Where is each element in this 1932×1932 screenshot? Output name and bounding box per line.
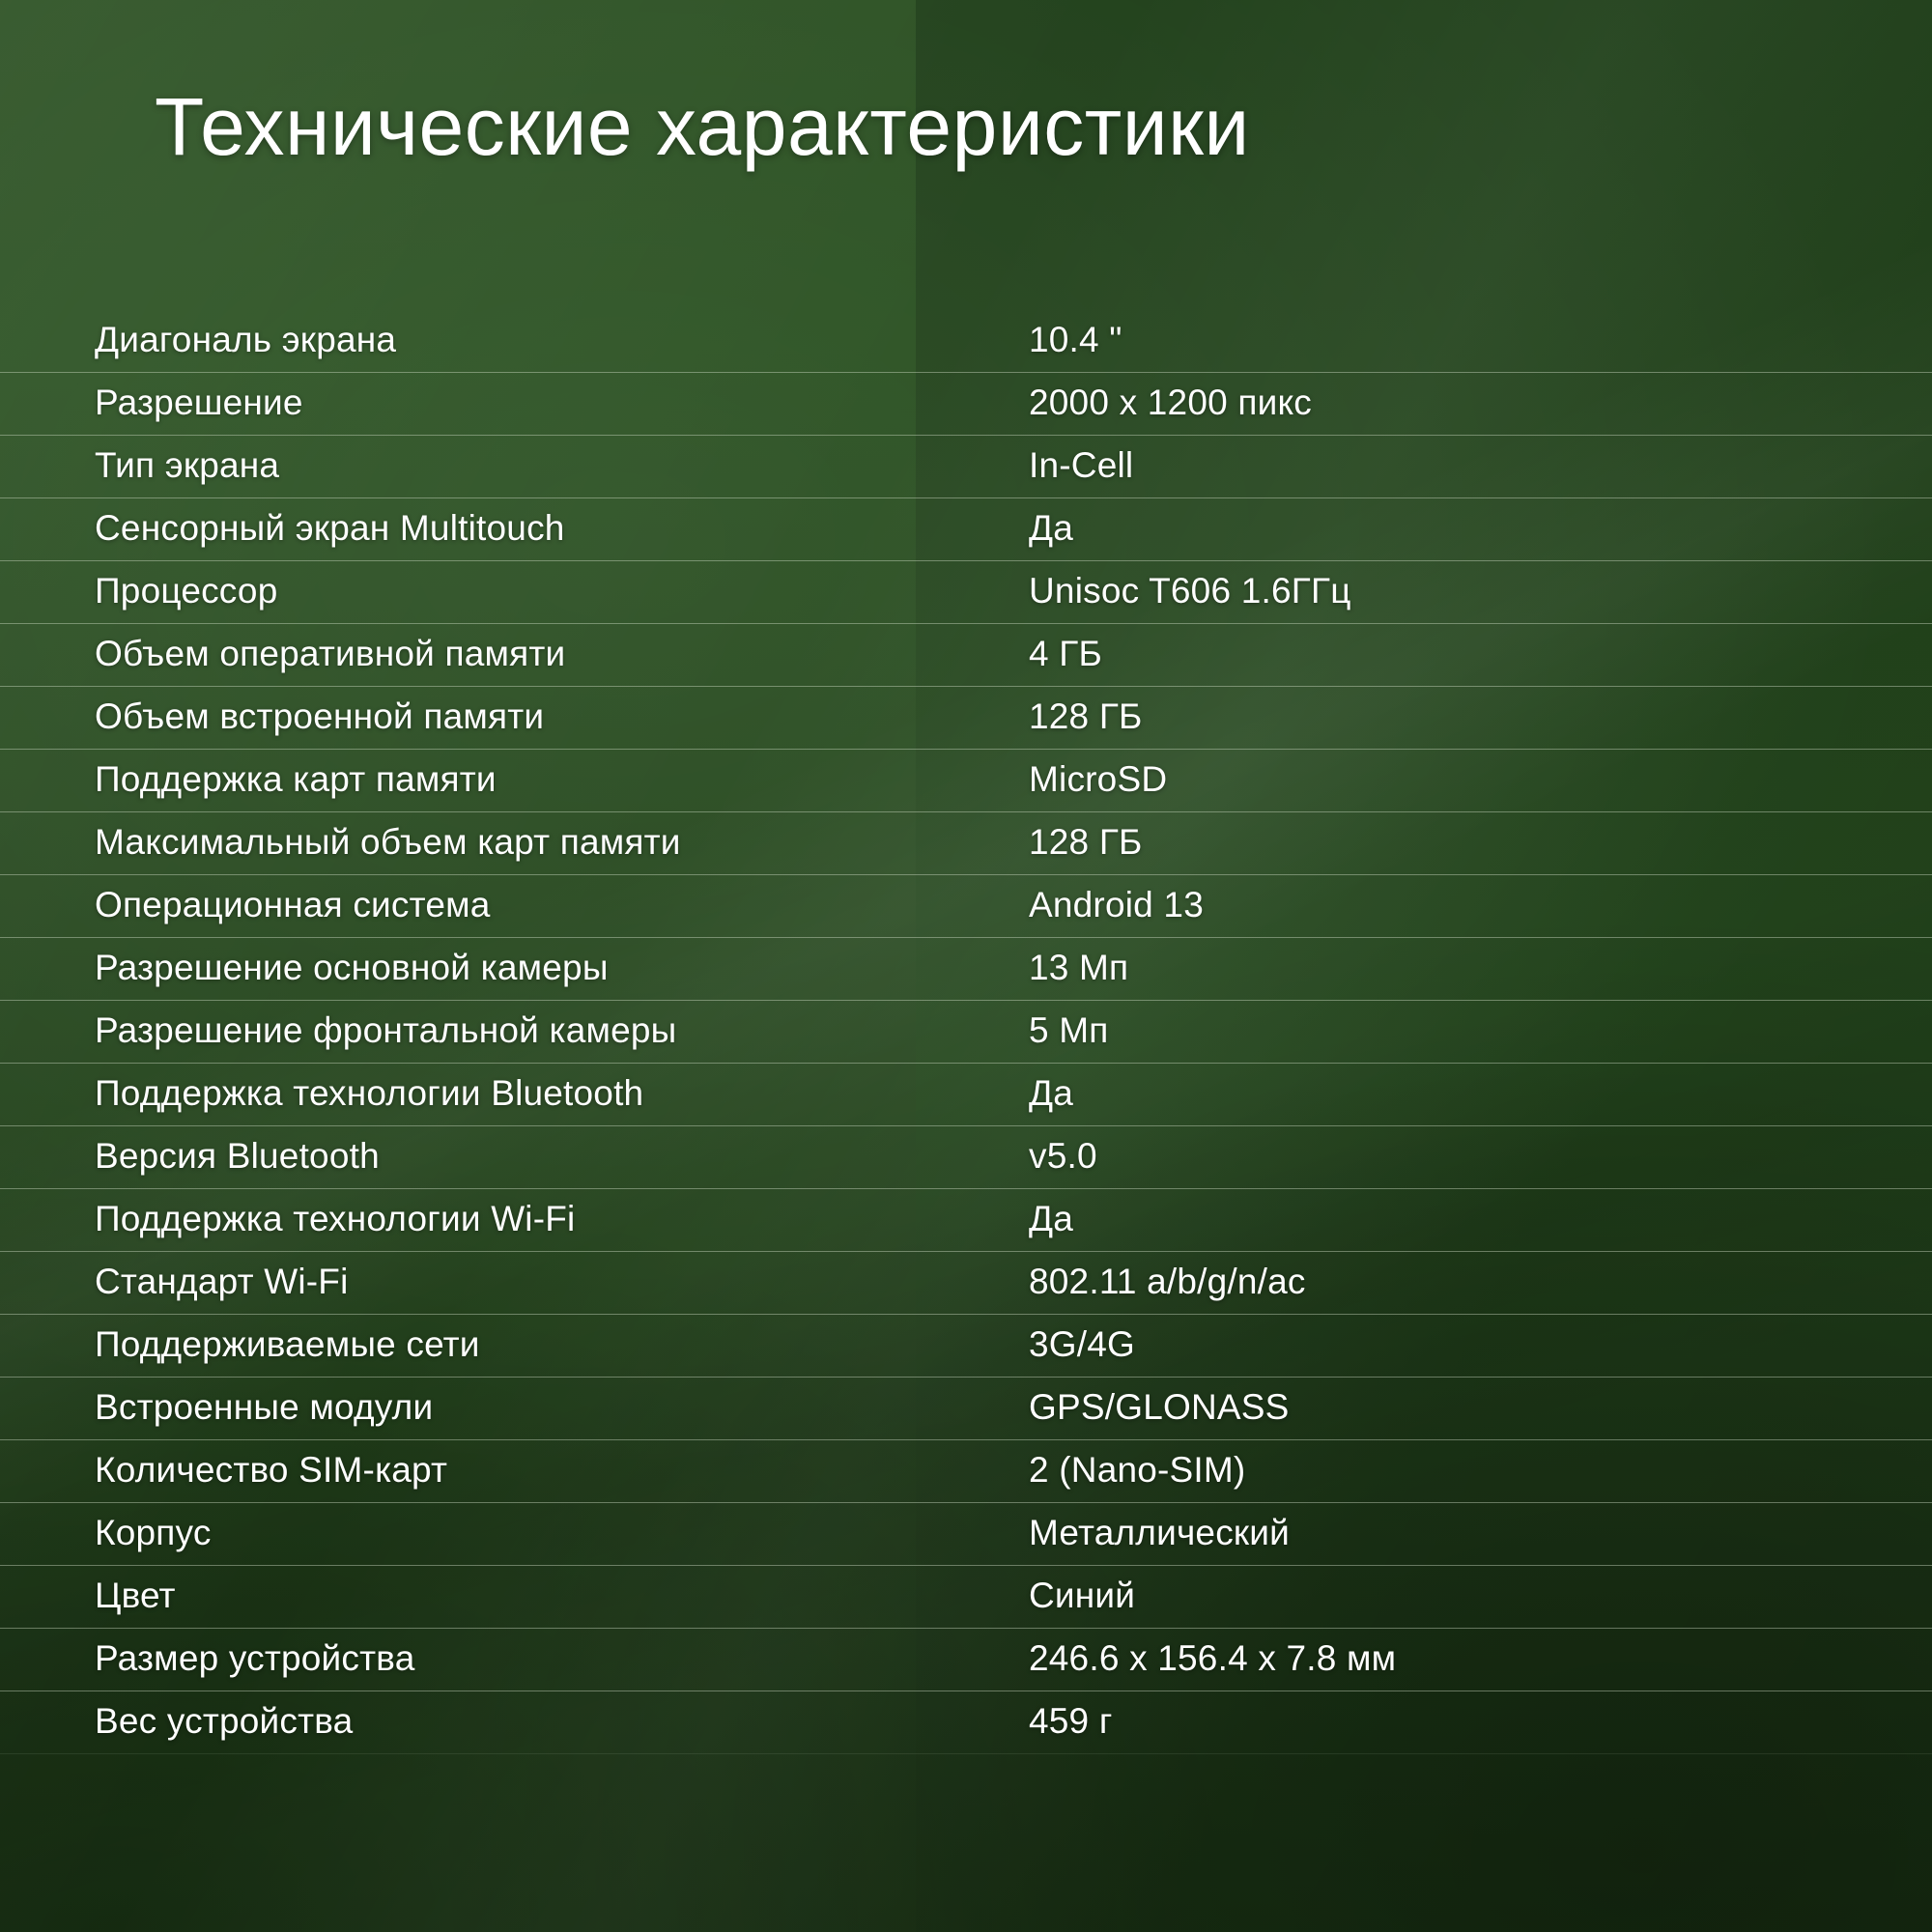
table-row: ЦветСиний	[0, 1565, 1932, 1628]
page-title: Технические характеристики	[155, 80, 1250, 174]
spec-label: Диагональ экрана	[95, 320, 396, 360]
spec-label: Вес устройства	[95, 1701, 353, 1742]
spec-label: Разрешение	[95, 383, 303, 423]
spec-label: Цвет	[95, 1576, 176, 1616]
table-row: Поддерживаемые сети3G/4G	[0, 1314, 1932, 1377]
spec-value: 13 Мп	[1029, 948, 1128, 988]
table-row: Размер устройства246.6 x 156.4 x 7.8 мм	[0, 1628, 1932, 1690]
table-row: КорпусМеталлический	[0, 1502, 1932, 1565]
spec-value: 459 г	[1029, 1701, 1113, 1742]
table-row: Версия Bluetoothv5.0	[0, 1125, 1932, 1188]
spec-value: 5 Мп	[1029, 1010, 1109, 1051]
table-row: Объем встроенной памяти128 ГБ	[0, 686, 1932, 749]
spec-label: Поддержка технологии Bluetooth	[95, 1073, 643, 1114]
table-row: Объем оперативной памяти4 ГБ	[0, 623, 1932, 686]
spec-label: Объем оперативной памяти	[95, 634, 565, 674]
table-row: ПроцессорUnisoc T606 1.6ГГц	[0, 560, 1932, 623]
spec-value: Металлический	[1029, 1513, 1290, 1553]
spec-value: Unisoc T606 1.6ГГц	[1029, 571, 1351, 611]
spec-value: GPS/GLONASS	[1029, 1387, 1290, 1428]
table-row: Стандарт Wi-Fi802.11 a/b/g/n/ac	[0, 1251, 1932, 1314]
spec-value: v5.0	[1029, 1136, 1097, 1177]
spec-value: 4 ГБ	[1029, 634, 1102, 674]
spec-value: Да	[1029, 508, 1073, 549]
table-row: Разрешение основной камеры13 Мп	[0, 937, 1932, 1000]
spec-value: 2000 x 1200 пикс	[1029, 383, 1312, 423]
spec-value: 246.6 x 156.4 x 7.8 мм	[1029, 1638, 1396, 1679]
spec-label: Версия Bluetooth	[95, 1136, 380, 1177]
spec-label: Сенсорный экран Multitouch	[95, 508, 565, 549]
table-row: Количество SIM-карт2 (Nano-SIM)	[0, 1439, 1932, 1502]
table-row: Максимальный объем карт памяти128 ГБ	[0, 811, 1932, 874]
spec-value: 3G/4G	[1029, 1324, 1135, 1365]
table-row: Вес устройства459 г	[0, 1690, 1932, 1753]
spec-label: Корпус	[95, 1513, 212, 1553]
table-bottom-divider	[0, 1753, 1932, 1754]
table-row: Сенсорный экран MultitouchДа	[0, 497, 1932, 560]
table-row: Встроенные модулиGPS/GLONASS	[0, 1377, 1932, 1439]
table-row: Поддержка технологии BluetoothДа	[0, 1063, 1932, 1125]
table-row: Диагональ экрана10.4 "	[0, 309, 1932, 372]
spec-value: In-Cell	[1029, 445, 1133, 486]
spec-value: 128 ГБ	[1029, 822, 1143, 863]
spec-label: Разрешение основной камеры	[95, 948, 609, 988]
table-row: Поддержка технологии Wi-FiДа	[0, 1188, 1932, 1251]
spec-value: Да	[1029, 1199, 1073, 1239]
spec-label: Поддержка технологии Wi-Fi	[95, 1199, 575, 1239]
spec-value: 10.4 "	[1029, 320, 1122, 360]
table-row: Разрешение2000 x 1200 пикс	[0, 372, 1932, 435]
spec-label: Разрешение фронтальной камеры	[95, 1010, 676, 1051]
spec-label: Тип экрана	[95, 445, 279, 486]
spec-value: Синий	[1029, 1576, 1135, 1616]
spec-label: Операционная система	[95, 885, 491, 925]
table-row: Тип экранаIn-Cell	[0, 435, 1932, 497]
spec-value: Android 13	[1029, 885, 1204, 925]
spec-label: Объем встроенной памяти	[95, 696, 544, 737]
table-row: Операционная системаAndroid 13	[0, 874, 1932, 937]
spec-label: Количество SIM-карт	[95, 1450, 447, 1491]
spec-value: 802.11 a/b/g/n/ac	[1029, 1262, 1306, 1302]
spec-label: Процессор	[95, 571, 277, 611]
spec-value: Да	[1029, 1073, 1073, 1114]
table-row: Поддержка карт памятиMicroSD	[0, 749, 1932, 811]
spec-label: Размер устройства	[95, 1638, 414, 1679]
spec-label: Стандарт Wi-Fi	[95, 1262, 349, 1302]
spec-sheet-slide: Технические характеристики Диагональ экр…	[0, 0, 1932, 1932]
spec-value: MicroSD	[1029, 759, 1167, 800]
spec-table: Диагональ экрана10.4 "Разрешение2000 x 1…	[0, 309, 1932, 1753]
spec-label: Максимальный объем карт памяти	[95, 822, 681, 863]
table-row: Разрешение фронтальной камеры5 Мп	[0, 1000, 1932, 1063]
spec-value: 2 (Nano-SIM)	[1029, 1450, 1245, 1491]
spec-label: Встроенные модули	[95, 1387, 433, 1428]
spec-label: Поддерживаемые сети	[95, 1324, 480, 1365]
spec-value: 128 ГБ	[1029, 696, 1143, 737]
spec-label: Поддержка карт памяти	[95, 759, 497, 800]
